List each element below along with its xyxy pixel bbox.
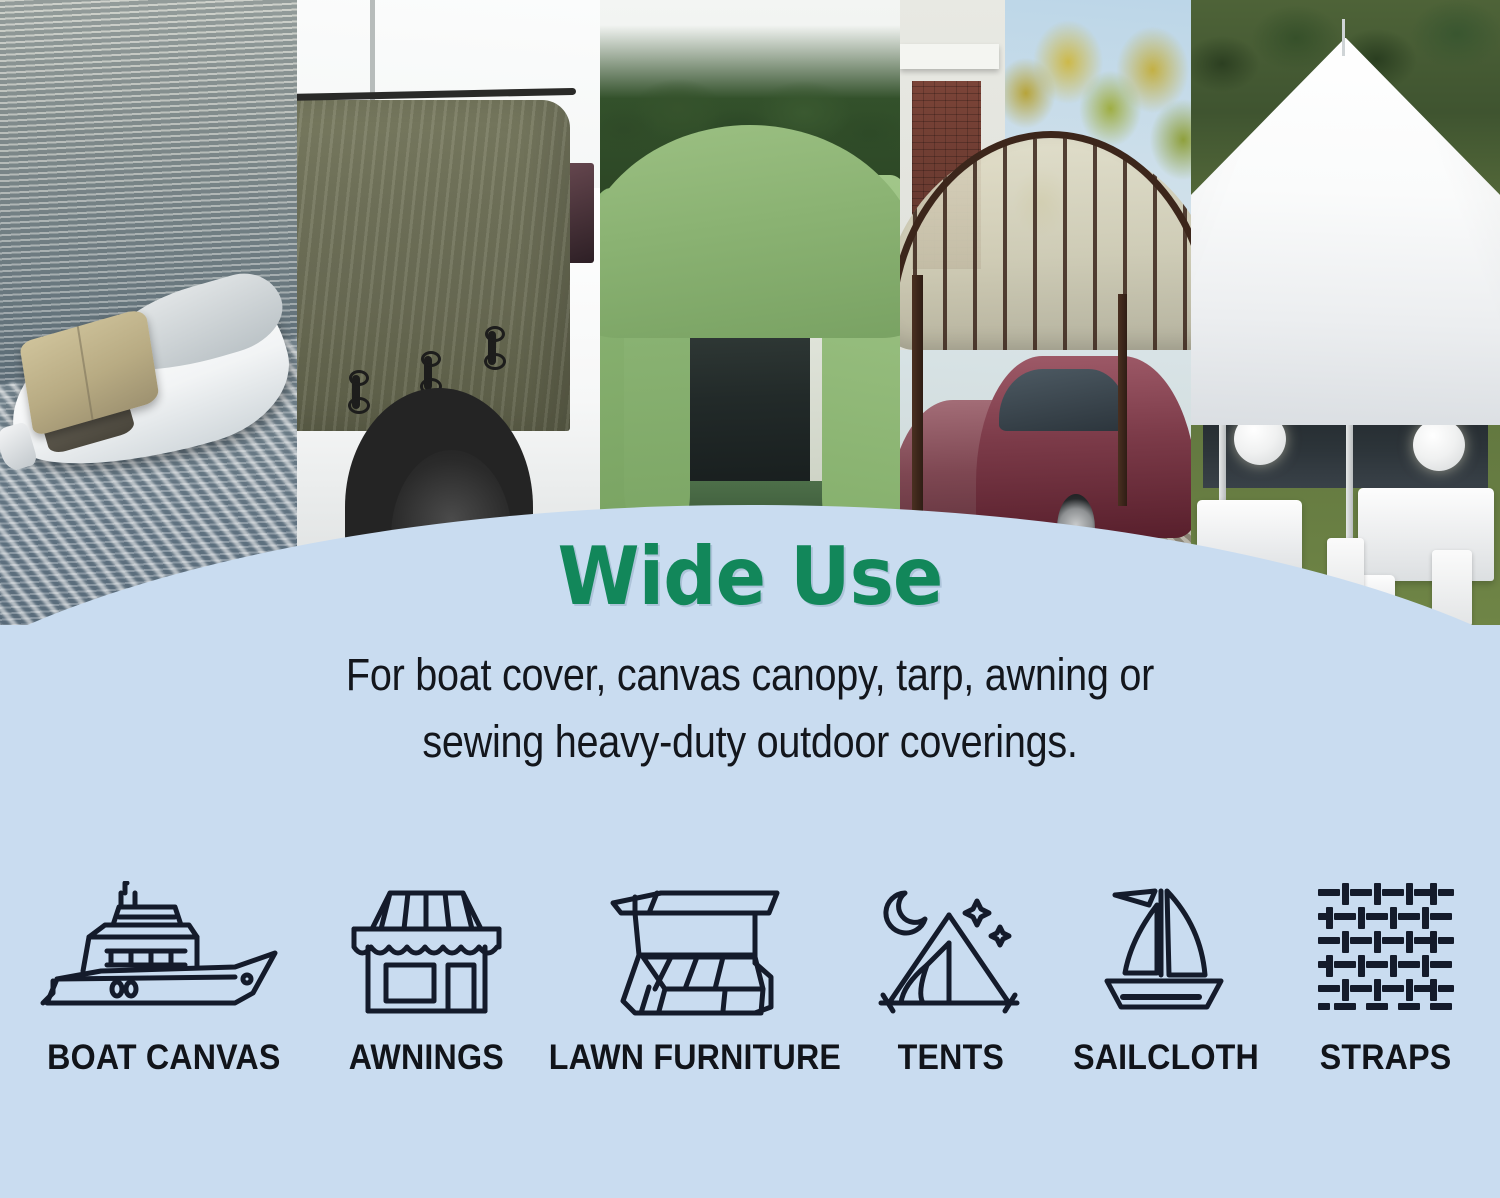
sailboat-icon <box>1091 876 1241 1026</box>
use-case-awnings: AWNINGS <box>319 876 534 1078</box>
use-case-tents: TENTS <box>856 876 1046 1078</box>
use-case-label: LAWN FURNITURE <box>549 1038 841 1078</box>
storefront-awning-icon <box>344 876 509 1026</box>
yacht-icon <box>39 876 289 1026</box>
use-case-icon-row: BOAT CANVAS AWNINGS <box>0 848 1500 1078</box>
use-case-straps: STRAPS <box>1286 876 1486 1078</box>
woven-strap-icon <box>1316 876 1456 1026</box>
use-case-label: SAILCLOTH <box>1073 1038 1259 1078</box>
use-case-lawn-furniture: LAWN FURNITURE <box>539 876 851 1078</box>
use-case-label: TENTS <box>898 1038 1004 1078</box>
use-case-sailcloth: SAILCLOTH <box>1051 876 1281 1078</box>
subtitle-line-2: sewing heavy-duty outdoor coverings. <box>90 716 1410 768</box>
porch-swing-icon <box>605 876 785 1026</box>
page-title: Wide Use <box>53 530 1448 623</box>
use-case-label: BOAT CANVAS <box>47 1038 280 1078</box>
use-case-label: STRAPS <box>1320 1038 1452 1078</box>
camping-tent-icon <box>869 876 1034 1026</box>
use-case-label: AWNINGS <box>349 1038 504 1078</box>
subtitle-line-1: For boat cover, canvas canopy, tarp, awn… <box>90 649 1410 701</box>
use-case-boat-canvas: BOAT CANVAS <box>14 876 314 1078</box>
